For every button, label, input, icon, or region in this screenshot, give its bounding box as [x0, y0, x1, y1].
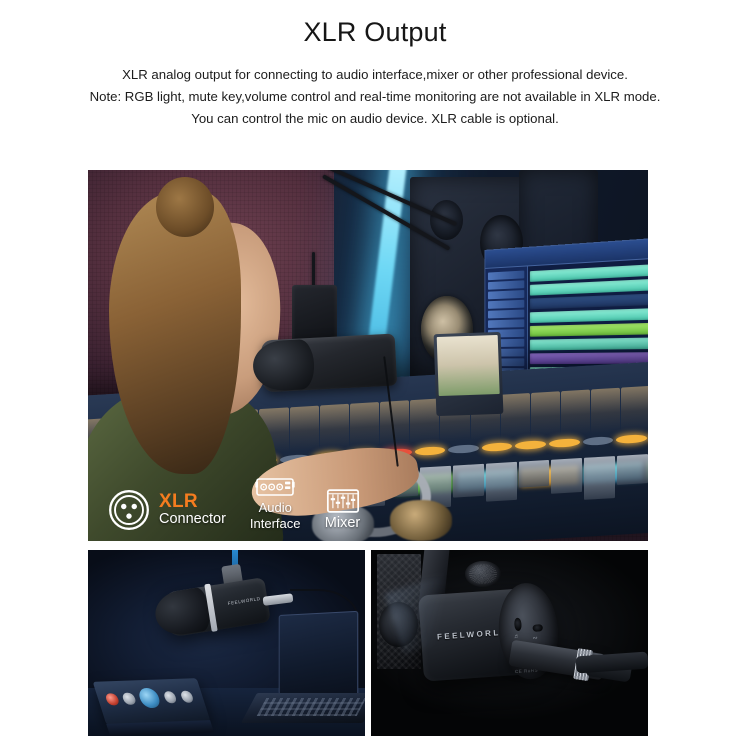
badge-xlr-connector: XLR Connector: [108, 489, 226, 531]
description-line-2: Note: RGB light, mute key,volume control…: [0, 86, 750, 108]
badge-audio-interface: Audio Interface: [250, 475, 301, 531]
mixer-main-knob: [137, 688, 163, 708]
laptop-keyboard-base: [241, 693, 365, 723]
broadcast-microphone: [260, 333, 397, 392]
description-line-3: You can control the mic on audio device.…: [0, 108, 750, 130]
usb-c-port: [533, 624, 543, 631]
badge-xlr-subtitle: Connector: [159, 512, 226, 527]
thumbnail-mic-rear-xlr-closeup: FEELWORLD ♬ ∾ CE RoHS: [371, 550, 648, 736]
mixer-icon: [325, 488, 361, 514]
person-hair-bun: [156, 177, 214, 236]
usb-icon: ∾: [532, 634, 538, 641]
console-mini-monitor: [434, 332, 504, 416]
mixer-knob: [105, 694, 120, 706]
feature-badge-overlay: XLR Connector: [108, 475, 361, 531]
page-header: XLR Output XLR analog output for connect…: [0, 0, 750, 130]
badge-audio-interface-label-1: Audio: [259, 501, 292, 515]
audio-interface-icon: [255, 475, 295, 499]
hero-photo: XLR Connector: [88, 170, 648, 541]
badge-xlr-text: XLR Connector: [159, 492, 226, 527]
thumbnail-row: FEELWORLD: [88, 550, 648, 736]
description-line-1: XLR analog output for connecting to audi…: [0, 64, 750, 86]
laptop-keys: [256, 699, 365, 717]
thumbnail-mic-with-mixer-and-laptop: FEELWORLD: [88, 550, 365, 736]
headphone-icon: ♬: [513, 633, 519, 639]
badge-mixer-label: Mixer: [325, 516, 360, 531]
image-gallery: XLR Connector: [88, 170, 648, 736]
mixer-knob: [122, 693, 137, 705]
mixer-knob: [163, 692, 178, 704]
desktop-audio-mixer: [93, 678, 211, 724]
page-title: XLR Output: [0, 18, 750, 48]
laptop-screen: [279, 611, 359, 699]
mic-brand-label: FEELWORLD: [227, 596, 260, 606]
mixer-knob: [179, 691, 194, 703]
mixer-knobs: [103, 685, 198, 712]
headphone-jack-port: [514, 618, 522, 631]
badge-xlr-title: XLR: [159, 492, 226, 511]
xlr-connector-icon: [108, 489, 150, 531]
badge-mixer: Mixer: [325, 488, 361, 531]
badge-audio-interface-label-2: Interface: [250, 517, 301, 531]
headphone-earcup: [390, 500, 452, 541]
